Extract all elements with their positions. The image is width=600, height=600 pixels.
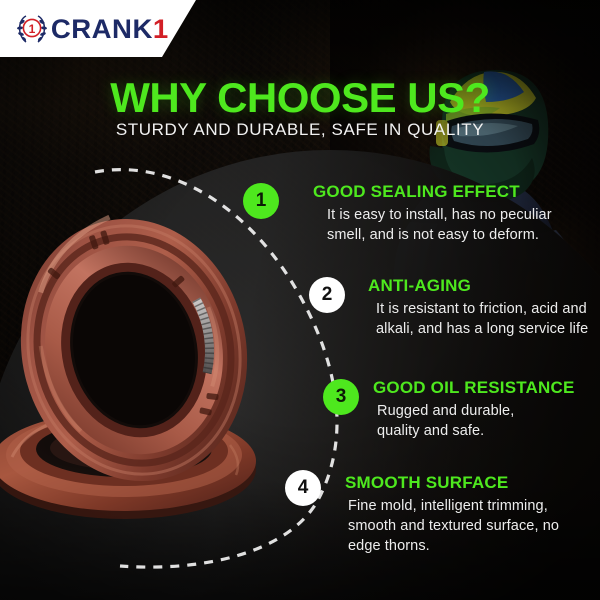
feature-body-line: Fine mold, intelligent trimming,: [348, 496, 559, 516]
feature-body-line: edge thorns.: [348, 536, 559, 556]
feature-body-4: Fine mold, intelligent trimming, smooth …: [345, 496, 559, 556]
feature-badge-3[interactable]: 3: [323, 379, 359, 415]
feature-body-line: It is resistant to friction, acid and: [376, 299, 588, 319]
feature-title-1: GOOD SEALING EFFECT: [313, 182, 552, 202]
feature-title-3: GOOD OIL RESISTANCE: [373, 378, 575, 398]
infographic-canvas: 1 CRANK1 WHY CHOOSE US? STURDY AND DURAB…: [0, 0, 600, 600]
feature-body-line: Rugged and durable,: [377, 401, 575, 421]
feature-body-line: quality and safe.: [377, 421, 575, 441]
feature-badge-1[interactable]: 1: [243, 183, 279, 219]
laurel-wreath-icon: 1: [14, 11, 50, 47]
feature-title-2: ANTI-AGING: [368, 276, 588, 296]
feature-body-line: alkali, and has a long service life: [376, 319, 588, 339]
brand-logo-banner[interactable]: 1 CRANK1: [0, 0, 196, 57]
page-subtitle: STURDY AND DURABLE, SAFE IN QUALITY: [0, 120, 600, 140]
feature-body-1: It is easy to install, has no peculiar s…: [313, 205, 552, 245]
feature-title-4: SMOOTH SURFACE: [345, 473, 559, 493]
brand-wordmark: CRANK1: [51, 14, 169, 45]
feature-body-2: It is resistant to friction, acid and al…: [368, 299, 588, 339]
feature-item-3: GOOD OIL RESISTANCE Rugged and durable, …: [373, 378, 575, 441]
feature-badge-2[interactable]: 2: [309, 277, 345, 313]
feature-body-3: Rugged and durable, quality and safe.: [373, 401, 575, 441]
feature-body-line: smell, and is not easy to deform.: [327, 225, 552, 245]
brand-wordmark-text: CRANK: [51, 14, 153, 44]
feature-item-4: SMOOTH SURFACE Fine mold, intelligent tr…: [345, 473, 559, 556]
feature-body-line: smooth and textured surface, no: [348, 516, 559, 536]
feature-item-2: ANTI-AGING It is resistant to friction, …: [368, 276, 588, 339]
feature-badge-4[interactable]: 4: [285, 470, 321, 506]
oil-seal-product-image: [0, 175, 284, 535]
feature-body-line: It is easy to install, has no peculiar: [327, 205, 552, 225]
brand-wordmark-accent: 1: [153, 14, 169, 44]
wreath-number: 1: [29, 22, 36, 36]
feature-item-1: GOOD SEALING EFFECT It is easy to instal…: [313, 182, 552, 245]
page-title: WHY CHOOSE US?: [0, 74, 600, 122]
